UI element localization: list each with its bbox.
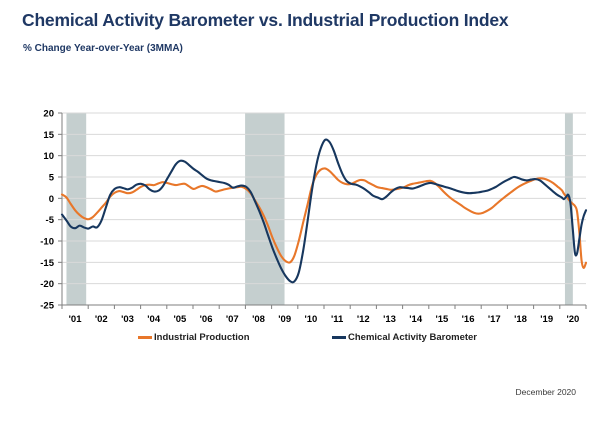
x-tick-label: '08 <box>252 314 265 325</box>
chart-page: Chemical Activity Barometer vs. Industri… <box>0 0 600 422</box>
x-tick-label: '07 <box>226 314 239 325</box>
x-tick-label: '01 <box>69 314 83 325</box>
footer-date: December 2020 <box>516 387 576 397</box>
x-tick-label: '10 <box>304 314 317 325</box>
y-tick-label: 5 <box>49 173 55 184</box>
y-tick-label: -20 <box>40 279 54 290</box>
legend-label-chemical-activity-barometer: Chemical Activity Barometer <box>348 332 477 343</box>
y-tick-label: 0 <box>49 194 54 205</box>
x-tick-label: '15 <box>435 314 449 325</box>
x-tick-label: '06 <box>200 314 213 325</box>
chart-legend: Industrial Production Chemical Activity … <box>0 330 600 350</box>
x-tick-label: '04 <box>147 314 161 325</box>
x-tick-label: '12 <box>357 314 370 325</box>
x-tick-label: '02 <box>95 314 108 325</box>
x-tick-label: '09 <box>278 314 291 325</box>
y-tick-label: 15 <box>43 130 54 141</box>
y-axis-tick-labels: 20151050-5-10-15-20-25 <box>40 109 62 312</box>
recession-band-1 <box>66 113 86 305</box>
y-tick-label: -5 <box>46 215 55 226</box>
x-tick-label: '11 <box>331 314 344 325</box>
data-series-group <box>62 139 586 282</box>
legend-swatch-industrial-production <box>138 336 152 339</box>
x-tick-label: '16 <box>462 314 475 325</box>
legend-item-chemical-activity-barometer: Chemical Activity Barometer <box>332 332 477 343</box>
recession-bands-group <box>66 113 572 305</box>
y-tick-label: -15 <box>40 258 54 269</box>
x-tick-label: '05 <box>173 314 187 325</box>
legend-item-industrial-production: Industrial Production <box>138 332 250 343</box>
x-tick-label: '18 <box>514 314 527 325</box>
y-tick-label: 20 <box>43 109 54 120</box>
x-tick-label: '03 <box>121 314 134 325</box>
series-line-chemical-activity-barometer <box>62 139 586 282</box>
x-tick-label: '20 <box>566 314 579 325</box>
recession-band-2 <box>245 113 284 305</box>
chart-canvas: 20151050-5-10-15-20-25 '01'02'03'04'05'0… <box>0 0 600 422</box>
x-tick-label: '14 <box>409 314 423 325</box>
legend-label-industrial-production: Industrial Production <box>154 332 250 343</box>
legend-swatch-chemical-activity-barometer <box>332 336 346 339</box>
x-axis-tick-labels: '01'02'03'04'05'06'07'08'09'10'11'12'13'… <box>69 314 580 325</box>
y-tick-label: -25 <box>40 301 54 312</box>
x-tick-label: '13 <box>383 314 396 325</box>
x-tick-label: '19 <box>540 314 553 325</box>
y-tick-label: 10 <box>43 151 54 162</box>
y-tick-label: -10 <box>40 237 54 248</box>
x-tick-label: '17 <box>488 314 501 325</box>
